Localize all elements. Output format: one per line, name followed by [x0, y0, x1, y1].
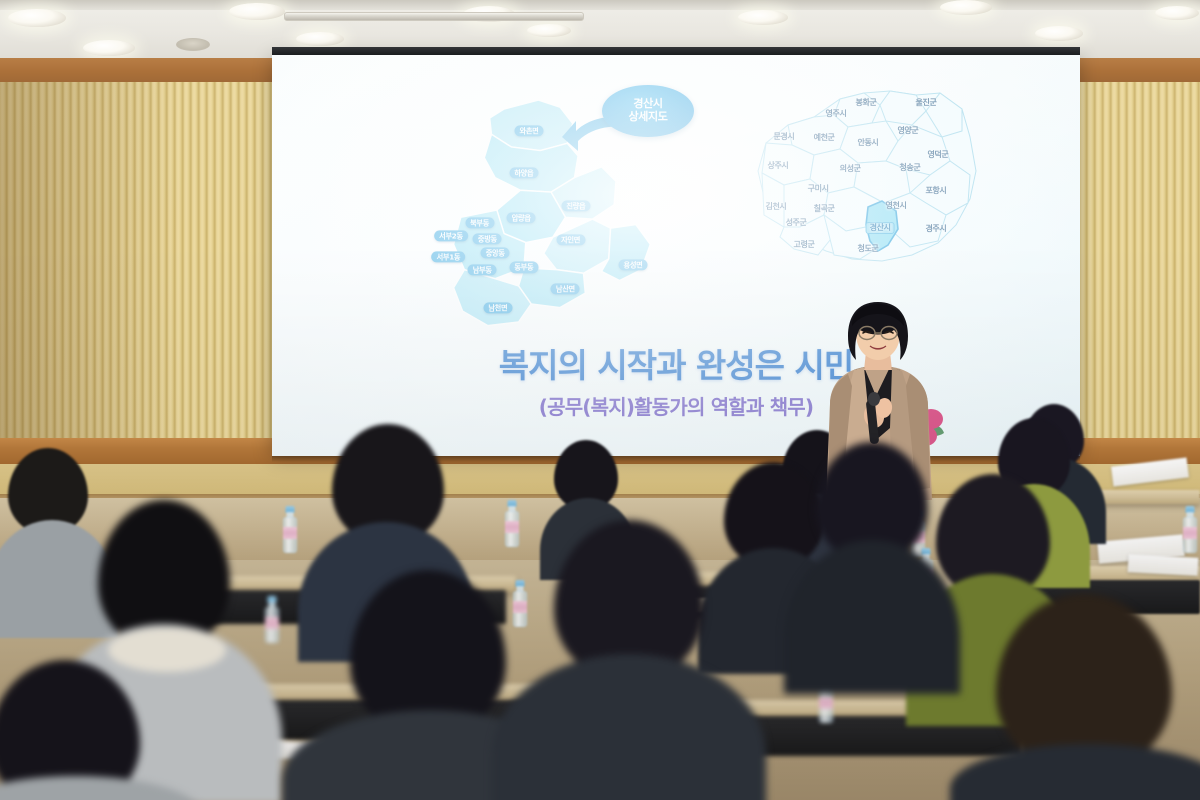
district-label: 북부동 [465, 217, 494, 228]
province-label: 영주시 [826, 110, 847, 118]
province-label: 김천시 [766, 203, 787, 211]
bottle-label [283, 527, 297, 539]
district-label: 중앙동 [481, 247, 510, 258]
attendee-front-far-right [962, 594, 1200, 800]
ceiling-air-vent [284, 12, 584, 21]
slide-content: 와촌면 하양읍 진량읍 북부동 압량읍 서부2동 중방동 중앙동 서부1동 자인… [272, 55, 1080, 456]
attendee-shoulders [492, 654, 766, 800]
province-label: 구미시 [808, 185, 829, 193]
gyeongsangbuk-do-map: 봉화군 울진군 영주시 영양군 문경시 예천군 안동시 영덕군 상주시 의성군 … [740, 79, 988, 275]
downlight [229, 3, 285, 20]
district-label: 와촌면 [515, 125, 544, 136]
attendee-shoulders [0, 776, 202, 800]
province-label: 성주군 [786, 219, 807, 227]
water-bottle [1182, 506, 1198, 560]
downlight [527, 24, 571, 37]
downlight [738, 10, 788, 25]
province-label: 안동시 [858, 139, 879, 147]
slide-title: 복지의 시작과 완성은 시민 [272, 339, 1080, 387]
province-label: 의성군 [840, 165, 861, 173]
province-label: 울진군 [916, 99, 937, 107]
province-label: 청도군 [858, 245, 879, 253]
district-label: 서부2동 [434, 231, 468, 242]
screen-top-frame [272, 47, 1080, 55]
attendee-front-right [784, 442, 960, 692]
callout-bubble: 경산시 상세지도 [602, 85, 694, 137]
province-label: 포항시 [925, 187, 946, 195]
bottle-label [1183, 527, 1197, 539]
district-label: 중방동 [473, 233, 502, 244]
district-label: 용성면 [619, 259, 648, 270]
downlight [8, 9, 66, 27]
district-label: 남부동 [468, 264, 497, 275]
lecture-hall-photo: 와촌면 하양읍 진량읍 북부동 압량읍 서부2동 중방동 중앙동 서부1동 자인… [0, 0, 1200, 800]
province-label: 문경시 [773, 133, 794, 141]
bottle-label [819, 697, 833, 709]
district-label: 자인면 [556, 234, 585, 245]
downlight [296, 32, 344, 46]
district-label: 남산면 [551, 283, 580, 294]
ceiling-speaker-grille [176, 38, 210, 51]
district-label: 서부1동 [432, 251, 466, 262]
downlight [1155, 6, 1199, 20]
province-label: 영천시 [886, 202, 907, 210]
province-label: 청송군 [899, 164, 920, 172]
attendee-front-center [506, 520, 750, 800]
water-bottle [282, 506, 298, 560]
district-label: 하양읍 [509, 167, 538, 178]
district-label: 동부동 [509, 262, 538, 273]
downlight [1035, 26, 1083, 41]
province-label: 칠곡군 [814, 205, 835, 213]
province-label: 봉화군 [856, 99, 877, 107]
district-label: 압량읍 [507, 213, 536, 224]
projection-screen: 와촌면 하양읍 진량읍 북부동 압량읍 서부2동 중방동 중앙동 서부1동 자인… [272, 55, 1080, 456]
attendee-shoulders [784, 540, 960, 694]
province-label: 경주시 [925, 225, 946, 233]
downlight [940, 0, 992, 15]
district-label: 진량읍 [561, 201, 590, 212]
province-label-gyeongsan: 경산시 [866, 222, 895, 234]
callout-line-2: 상세지도 [629, 111, 668, 124]
province-label: 상주시 [767, 162, 788, 170]
downlight [83, 40, 135, 56]
ceiling-trim [0, 0, 1200, 10]
attendee-front-edge-left [0, 660, 190, 800]
slide-subtitle: (공무(복지)활동가의 역할과 책무) [272, 391, 1080, 420]
district-label: 남천면 [483, 303, 512, 314]
province-label: 고령군 [794, 241, 815, 249]
attendee-shoulders [950, 744, 1200, 800]
province-label: 영덕군 [927, 151, 948, 159]
province-label: 영양군 [897, 127, 918, 135]
detail-map-callout: 경산시 상세지도 [602, 85, 694, 137]
province-label: 예천군 [814, 134, 835, 142]
